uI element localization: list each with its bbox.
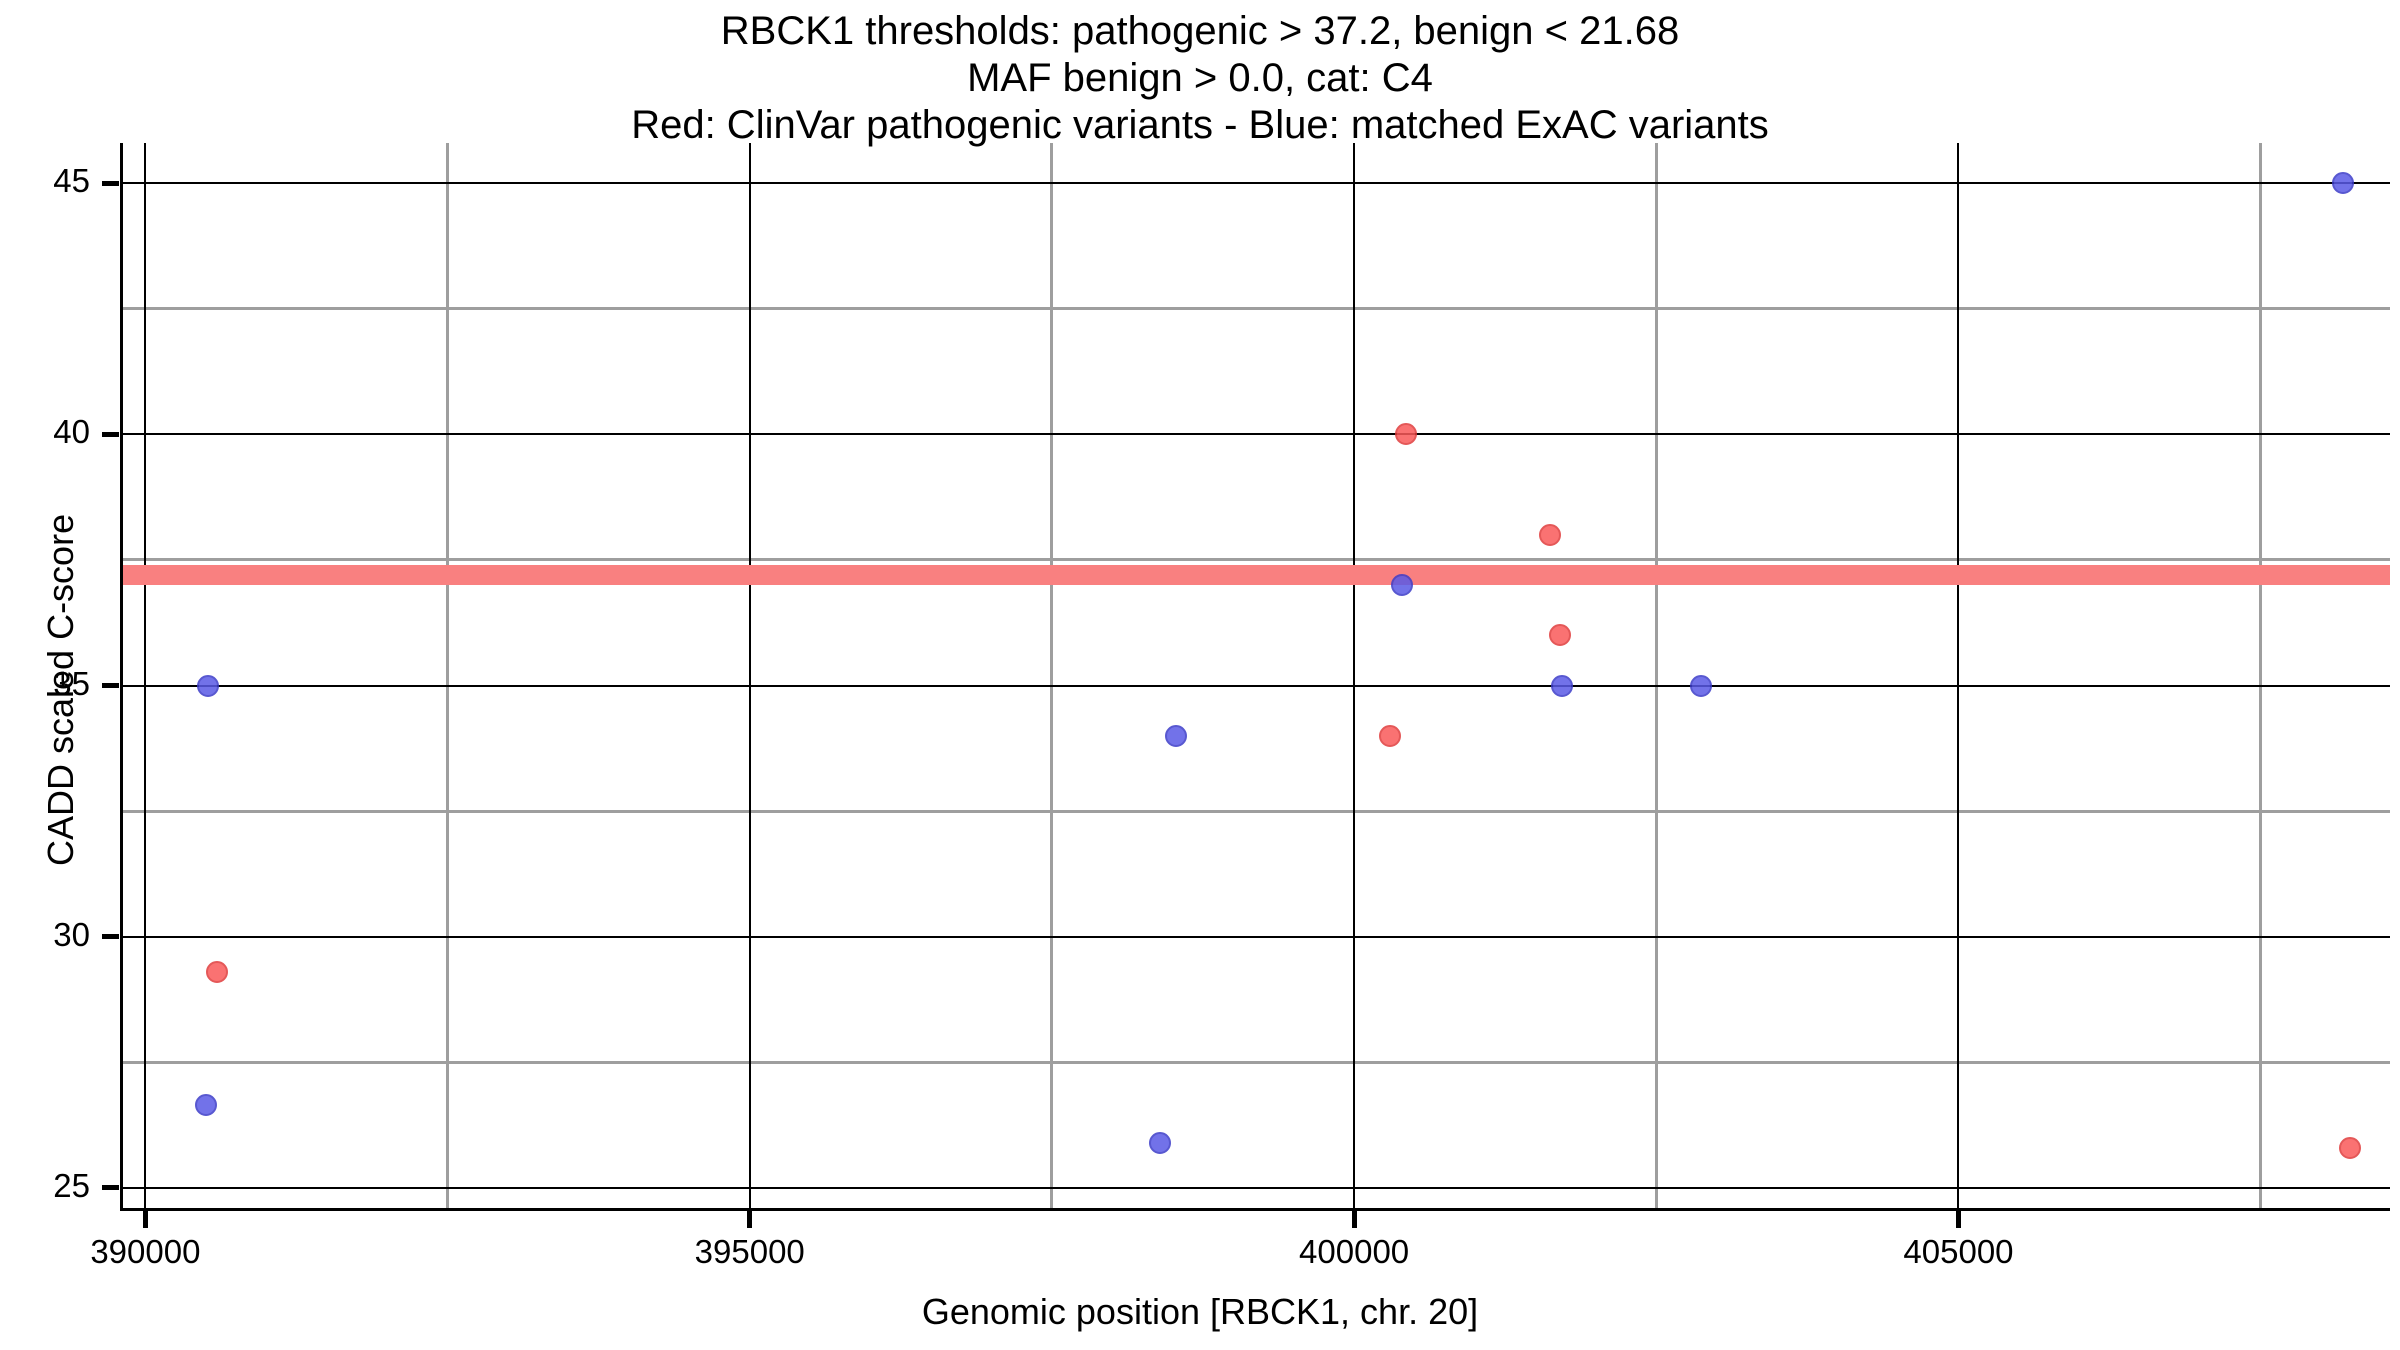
gridline-v-major <box>144 143 146 1208</box>
chart-root: RBCK1 thresholds: pathogenic > 37.2, ben… <box>0 0 2400 1350</box>
gridline-h-major <box>120 1187 2390 1189</box>
data-point-pathogenic <box>1539 524 1561 546</box>
data-point-pathogenic <box>1395 423 1417 445</box>
x-tick-mark <box>1352 1211 1357 1228</box>
y-tick-mark <box>102 181 119 186</box>
y-tick-mark <box>102 934 119 939</box>
gridline-h-major <box>120 433 2390 435</box>
data-point-pathogenic <box>206 961 228 983</box>
data-point-benign <box>197 675 219 697</box>
y-tick-mark <box>102 1185 119 1190</box>
y-tick-label: 25 <box>0 1167 90 1205</box>
gridline-v-major <box>1353 143 1355 1208</box>
x-tick-mark <box>143 1211 148 1228</box>
gridline-h-major <box>120 182 2390 184</box>
data-point-pathogenic <box>1379 725 1401 747</box>
y-tick-mark <box>102 683 119 688</box>
y-tick-mark <box>102 432 119 437</box>
gridline-v-minor <box>1655 143 1658 1208</box>
data-point-benign <box>2332 172 2354 194</box>
gridline-v-minor <box>2259 143 2262 1208</box>
gridline-h-minor <box>120 810 2390 813</box>
chart-title: RBCK1 thresholds: pathogenic > 37.2, ben… <box>0 8 2400 149</box>
x-axis-spine <box>120 1208 2390 1211</box>
y-tick-label: 30 <box>0 916 90 954</box>
data-point-pathogenic <box>2339 1137 2361 1159</box>
gridline-v-major <box>1957 143 1959 1208</box>
x-tick-label: 400000 <box>1244 1233 1464 1271</box>
data-point-benign <box>195 1094 217 1116</box>
data-point-benign <box>1165 725 1187 747</box>
x-axis-title: Genomic position [RBCK1, chr. 20] <box>0 1291 2400 1333</box>
x-tick-mark <box>747 1211 752 1228</box>
x-tick-label: 405000 <box>1848 1233 2068 1271</box>
title-line-2: MAF benign > 0.0, cat: C4 <box>0 55 2400 102</box>
pathogenic-threshold-band <box>120 565 2390 585</box>
y-axis-spine <box>120 143 123 1208</box>
data-point-benign <box>1391 574 1413 596</box>
y-tick-label: 40 <box>0 413 90 451</box>
x-tick-mark <box>1956 1211 1961 1228</box>
gridline-h-minor <box>120 558 2390 561</box>
gridline-v-minor <box>1050 143 1053 1208</box>
gridline-h-minor <box>120 307 2390 310</box>
gridline-v-major <box>749 143 751 1208</box>
gridline-h-major <box>120 685 2390 687</box>
gridline-v-minor <box>446 143 449 1208</box>
data-point-benign <box>1551 675 1573 697</box>
title-line-1: RBCK1 thresholds: pathogenic > 37.2, ben… <box>0 8 2400 55</box>
data-point-benign <box>1149 1132 1171 1154</box>
plot-area <box>120 143 2390 1208</box>
y-tick-label: 35 <box>0 665 90 703</box>
x-tick-label: 395000 <box>640 1233 860 1271</box>
data-point-pathogenic <box>1549 624 1571 646</box>
title-line-3: Red: ClinVar pathogenic variants - Blue:… <box>0 102 2400 149</box>
gridline-h-minor <box>120 1061 2390 1064</box>
x-tick-label: 390000 <box>35 1233 255 1271</box>
gridline-h-major <box>120 936 2390 938</box>
y-tick-label: 45 <box>0 162 90 200</box>
data-point-benign <box>1690 675 1712 697</box>
